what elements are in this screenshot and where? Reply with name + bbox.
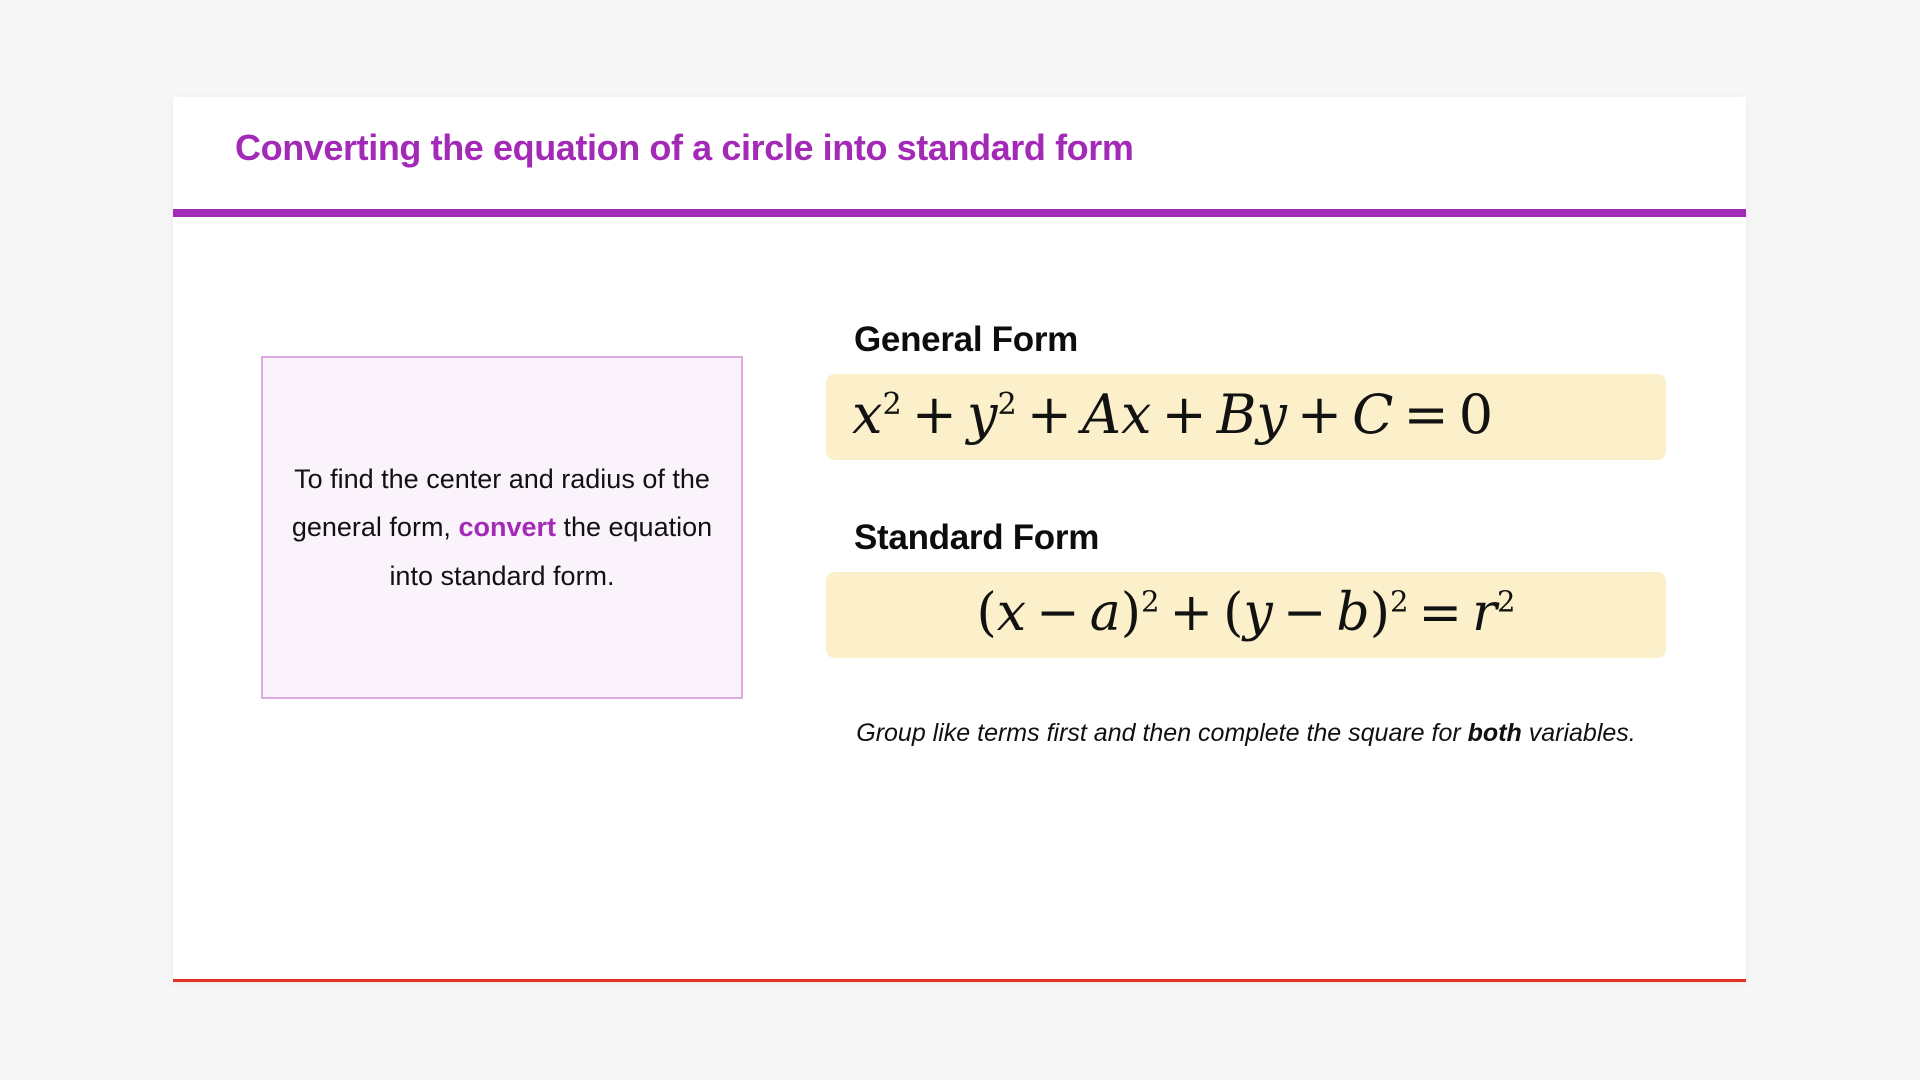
token-y: y bbox=[967, 383, 998, 446]
general-form-equation-box: x2+y2+Ax+By+C=0 bbox=[826, 374, 1666, 460]
token-close-paren-2: ) bbox=[1370, 583, 1390, 643]
callout-box: To find the center and radius of the gen… bbox=[261, 356, 743, 699]
token-minus-2: − bbox=[1273, 583, 1337, 643]
token-open-paren-2: ( bbox=[1223, 583, 1243, 643]
token-exponent-3: 2 bbox=[1497, 585, 1516, 619]
title-divider bbox=[173, 209, 1746, 217]
token-Ax: x bbox=[1121, 383, 1151, 446]
token-exponent-1: 2 bbox=[1141, 585, 1160, 619]
slide-card: Converting the equation of a circle into… bbox=[173, 97, 1746, 982]
token-plus-1: + bbox=[902, 383, 967, 446]
general-form-equation: x2+y2+Ax+By+C=0 bbox=[852, 388, 1493, 442]
callout-highlight-convert: convert bbox=[458, 512, 556, 542]
forms-column: General Form x2+y2+Ax+By+C=0 Standard Fo… bbox=[826, 320, 1666, 756]
token-plus-2: + bbox=[1017, 383, 1082, 446]
token-std-y: y bbox=[1243, 583, 1272, 643]
footnote-before: Group like terms first and then complete… bbox=[856, 719, 1467, 747]
token-b: b bbox=[1336, 583, 1369, 643]
token-close-paren-1: ) bbox=[1121, 583, 1141, 643]
token-std-x: x bbox=[997, 583, 1026, 643]
token-a: a bbox=[1090, 583, 1121, 643]
token-plus-4: + bbox=[1287, 383, 1352, 446]
token-std-plus: + bbox=[1160, 583, 1224, 643]
footnote-after: variables. bbox=[1522, 719, 1636, 747]
token-x-exponent: 2 bbox=[882, 387, 901, 422]
token-C: C bbox=[1352, 383, 1393, 446]
token-std-equals: = bbox=[1409, 583, 1473, 643]
footnote-text: Group like terms first and then complete… bbox=[826, 710, 1666, 756]
token-open-paren-1: ( bbox=[977, 583, 997, 643]
token-zero: 0 bbox=[1459, 383, 1493, 446]
standard-form-heading: Standard Form bbox=[854, 518, 1666, 558]
token-equals: = bbox=[1393, 383, 1458, 446]
token-plus-3: + bbox=[1151, 383, 1216, 446]
token-minus-1: − bbox=[1026, 583, 1090, 643]
footnote-emphasis-both: both bbox=[1468, 719, 1522, 747]
callout-text: To find the center and radius of the gen… bbox=[263, 455, 741, 599]
token-A: A bbox=[1082, 383, 1121, 446]
standard-form-equation-box: (x−a)2+(y−b)2=r2 bbox=[826, 572, 1666, 658]
token-y-exponent: 2 bbox=[997, 387, 1016, 422]
token-B: B bbox=[1217, 383, 1257, 446]
section-gap bbox=[826, 460, 1666, 518]
page-title: Converting the equation of a circle into… bbox=[235, 127, 1134, 169]
standard-form-equation: (x−a)2+(y−b)2=r2 bbox=[977, 587, 1516, 639]
token-x: x bbox=[852, 383, 882, 446]
token-r: r bbox=[1472, 583, 1497, 643]
general-form-heading: General Form bbox=[854, 320, 1666, 360]
token-exponent-2: 2 bbox=[1390, 585, 1409, 619]
token-By: y bbox=[1256, 383, 1287, 446]
